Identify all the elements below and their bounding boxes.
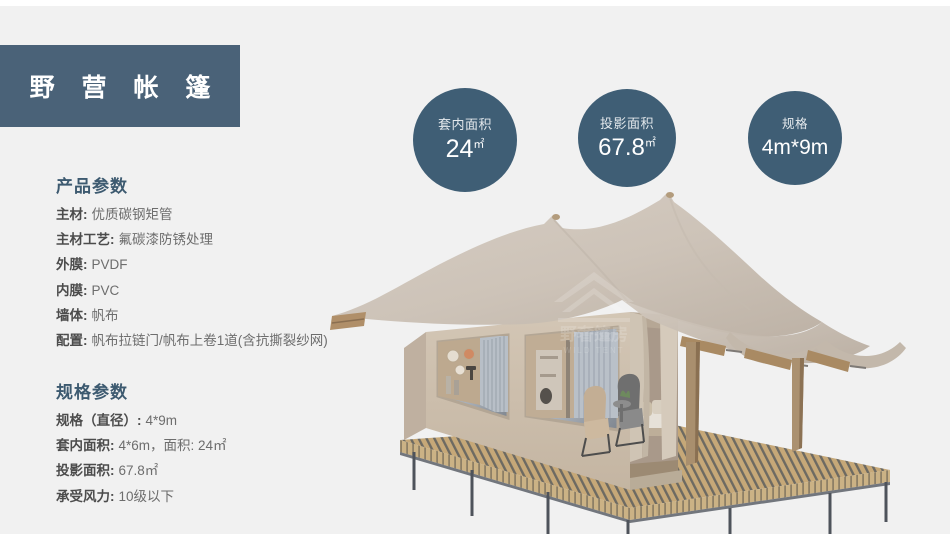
top-white-strip bbox=[0, 0, 950, 6]
spec-row: 承受风力: 10级以下 bbox=[56, 489, 227, 505]
spec-row: 内膜: PVC bbox=[56, 283, 328, 299]
badge-label: 规格 bbox=[782, 118, 808, 131]
spec-value: PVC bbox=[92, 283, 120, 299]
spec-row: 投影面积: 67.8㎡ bbox=[56, 463, 227, 479]
title-banner: 野 营 帐 篷 bbox=[0, 45, 240, 127]
slide-root: 野 营 帐 篷 产品参数 主材: 优质碳钢矩管 主材工艺: 氟碳漆防锈处理 外膜… bbox=[0, 0, 950, 534]
badge-projected-area: 投影面积 67.8㎡ bbox=[578, 89, 676, 187]
spec-label: 内膜: bbox=[56, 283, 88, 299]
spec-row: 主材工艺: 氟碳漆防锈处理 bbox=[56, 232, 328, 248]
spec-label: 套内面积: bbox=[56, 438, 115, 454]
page-title: 野 营 帐 篷 bbox=[20, 68, 221, 104]
badge-value: 67.8㎡ bbox=[598, 136, 656, 160]
badge-label: 投影面积 bbox=[600, 117, 654, 130]
badge-value: 24㎡ bbox=[446, 137, 485, 162]
spec-value: 67.8㎡ bbox=[119, 463, 159, 479]
spec-label: 外膜: bbox=[56, 257, 88, 273]
badge-interior-area: 套内面积 24㎡ bbox=[413, 88, 517, 192]
badge-value: 4m*9m bbox=[762, 137, 829, 158]
spec-label: 主材工艺: bbox=[56, 232, 115, 248]
product-params-heading: 产品参数 bbox=[56, 172, 328, 197]
spec-row: 外膜: PVDF bbox=[56, 257, 328, 273]
tent-illustration: 野奢篷房 WILD TENT bbox=[330, 190, 950, 534]
spec-row: 规格（直径）: 4*9m bbox=[56, 413, 227, 429]
spec-label: 主材: bbox=[56, 207, 88, 223]
watermark-text: 野奢篷房 bbox=[560, 324, 628, 344]
badge-label: 套内面积 bbox=[438, 118, 492, 131]
spec-label: 规格（直径）: bbox=[56, 413, 142, 429]
tent-render-svg: 野奢篷房 WILD TENT bbox=[330, 190, 950, 534]
badge-dimensions: 规格 4m*9m bbox=[748, 91, 842, 185]
spec-label: 配置: bbox=[56, 333, 88, 349]
spec-value: PVDF bbox=[92, 257, 128, 273]
spec-label: 承受风力: bbox=[56, 489, 115, 505]
spec-value: 帆布拉链门/帆布上卷1道(含抗撕裂纱网) bbox=[92, 333, 328, 349]
size-params-block: 规格参数 规格（直径）: 4*9m 套内面积: 4*6m，面积: 24㎡ 投影面… bbox=[56, 378, 227, 514]
spec-value: 4*9m bbox=[146, 413, 178, 429]
spec-label: 墙体: bbox=[56, 308, 88, 324]
spec-value: 帆布 bbox=[92, 308, 119, 324]
canopy-left-tensioner bbox=[330, 312, 366, 330]
spec-value: 4*6m，面积: 24㎡ bbox=[119, 438, 227, 454]
spec-row: 主材: 优质碳钢矩管 bbox=[56, 207, 328, 223]
canopy-main bbox=[332, 192, 822, 337]
spec-value: 10级以下 bbox=[119, 489, 175, 505]
spec-row: 配置: 帆布拉链门/帆布上卷1道(含抗撕裂纱网) bbox=[56, 333, 328, 349]
spec-value: 优质碳钢矩管 bbox=[92, 207, 173, 223]
spec-row: 墙体: 帆布 bbox=[56, 308, 328, 324]
spec-label: 投影面积: bbox=[56, 463, 115, 479]
spec-value: 氟碳漆防锈处理 bbox=[119, 232, 214, 248]
product-params-block: 产品参数 主材: 优质碳钢矩管 主材工艺: 氟碳漆防锈处理 外膜: PVDF 内… bbox=[56, 172, 328, 358]
size-params-heading: 规格参数 bbox=[56, 378, 227, 403]
cabin-left-wall bbox=[404, 332, 426, 440]
spec-row: 套内面积: 4*6m，面积: 24㎡ bbox=[56, 438, 227, 454]
watermark-subtext: WILD TENT bbox=[564, 346, 625, 355]
